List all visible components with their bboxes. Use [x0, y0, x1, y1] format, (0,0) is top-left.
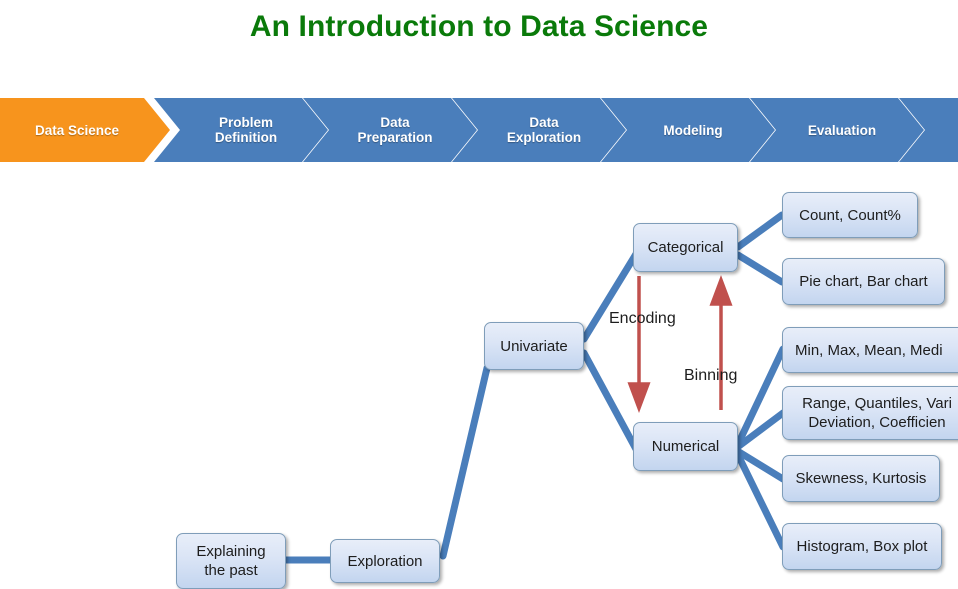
page-title: An Introduction to Data Science: [0, 10, 958, 44]
edge-exploration-to-univariate: [443, 368, 487, 556]
edge-univariate-to-numerical: [584, 353, 637, 451]
process-step-data-exploration[interactable]: Data Exploration: [452, 98, 626, 162]
process-step-label-line1: Data Science: [35, 123, 119, 138]
process-step-label-line1: Data: [357, 115, 432, 130]
edge-categorical-to-count: [738, 215, 782, 247]
node-count[interactable]: Count, Count%: [782, 192, 918, 238]
node-pie-bar-chart[interactable]: Pie chart, Bar chart: [782, 258, 945, 305]
edge-numerical-to-histogram: [739, 457, 783, 547]
node-numerical[interactable]: Numerical: [633, 422, 738, 471]
binning-arrow-head: [712, 280, 730, 304]
node-label: Explaining the past: [196, 542, 265, 580]
node-univariate[interactable]: Univariate: [484, 322, 584, 370]
process-step-label-line1: Data: [507, 115, 581, 130]
process-step-label-line1: Modeling: [663, 123, 722, 138]
edge-categorical-to-piebar: [738, 255, 782, 282]
node-label-line1: Range, Quantiles, Vari: [802, 394, 952, 413]
process-breadcrumb-bar: Data Science Problem Definition Data Pre…: [0, 98, 958, 164]
process-step-evaluation[interactable]: Evaluation: [750, 98, 924, 162]
process-step-label-line2: Exploration: [507, 130, 581, 145]
node-explaining-the-past[interactable]: Explaining the past: [176, 533, 286, 589]
node-skewness-kurtosis[interactable]: Skewness, Kurtosis: [782, 455, 940, 502]
process-step-label-line2: Definition: [215, 130, 277, 145]
node-label: Count, Count%: [799, 206, 901, 225]
node-range-quantiles-variance[interactable]: Range, Quantiles, Vari Deviation, Coeffi…: [782, 386, 958, 440]
encoding-arrow-head: [630, 384, 648, 408]
node-label: Exploration: [347, 552, 422, 571]
data-exploration-mindmap: Encoding Binning Explaining the past Exp…: [0, 164, 958, 576]
process-step-data-preparation[interactable]: Data Preparation: [303, 98, 477, 162]
process-step-modeling[interactable]: Modeling: [601, 98, 775, 162]
node-histogram-box-plot[interactable]: Histogram, Box plot: [782, 523, 942, 570]
node-categorical[interactable]: Categorical: [633, 223, 738, 272]
process-step-data-science[interactable]: Data Science: [0, 98, 170, 162]
node-label-line2: Deviation, Coefficien: [802, 413, 952, 432]
process-step-problem-definition[interactable]: Problem Definition: [154, 98, 328, 162]
node-label: Univariate: [500, 337, 568, 356]
node-label: Skewness, Kurtosis: [796, 469, 927, 488]
process-step-label-line1: Problem: [215, 115, 277, 130]
process-step-label-line2: Preparation: [357, 130, 432, 145]
process-step-label-line1: Evaluation: [808, 123, 876, 138]
node-min-max-mean-median[interactable]: Min, Max, Mean, Medi: [782, 327, 958, 373]
node-label: Min, Max, Mean, Medi: [795, 341, 943, 360]
node-exploration[interactable]: Exploration: [330, 539, 440, 583]
node-label: Categorical: [648, 238, 724, 257]
edge-label-binning: Binning: [684, 367, 737, 385]
node-label: Numerical: [652, 437, 720, 456]
node-label: Pie chart, Bar chart: [799, 272, 927, 291]
edge-label-encoding: Encoding: [609, 310, 676, 328]
node-label: Histogram, Box plot: [797, 537, 928, 556]
